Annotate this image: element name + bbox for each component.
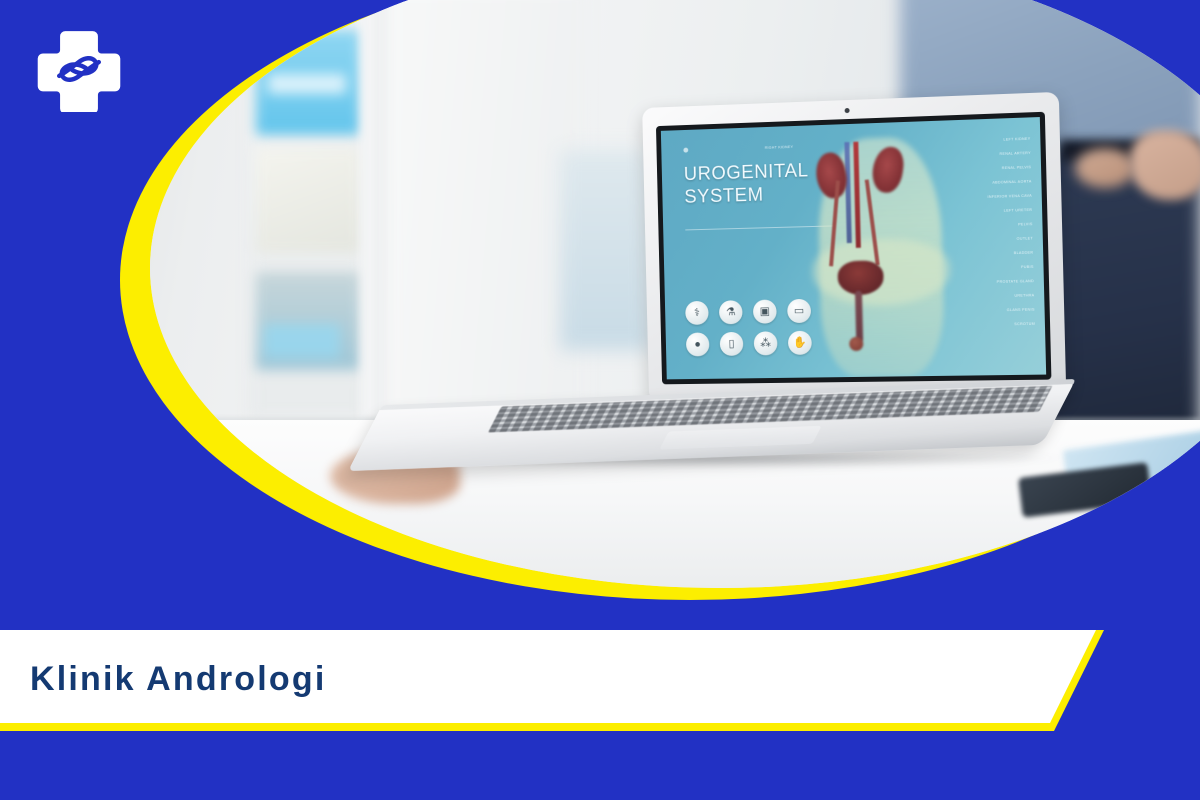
laptop: UROGENITAL SYSTEM — [150, 0, 1200, 588]
anatomy-label: PROSTATE GLAND — [918, 280, 1035, 286]
screen-heading-line1: UROGENITAL — [684, 161, 809, 187]
anatomy-label: RENAL PELVIS — [915, 166, 1031, 173]
camera-icon[interactable]: ▣ — [753, 300, 777, 324]
screen-heading: UROGENITAL SYSTEM — [684, 161, 810, 209]
anatomy-label: ABDOMINAL AORTA — [915, 181, 1031, 188]
document-icon[interactable]: ▯ — [720, 332, 744, 356]
anatomy-label: URETHRA — [918, 294, 1035, 300]
clinic-logo[interactable] — [36, 26, 122, 112]
anatomy-label: RIGHT KIDNEY — [765, 144, 848, 150]
glans-penis — [849, 336, 863, 350]
laptop-trackpad[interactable] — [659, 426, 821, 450]
anatomy-label: INFERIOR VENA CAVA — [916, 195, 1032, 202]
hero-photo-image: UROGENITAL SYSTEM — [150, 0, 1200, 588]
laptop-screen[interactable]: UROGENITAL SYSTEM — [661, 117, 1046, 379]
stethoscope-icon[interactable]: ⚕ — [685, 301, 709, 325]
bladder — [837, 260, 884, 295]
title-bar-white-panel: Klinik Andrologi — [0, 630, 1096, 723]
title-bar: Klinik Andrologi — [0, 630, 1104, 731]
screen-heading-rule — [685, 226, 834, 231]
screen-corner-dot-icon — [683, 147, 688, 152]
anatomy-label: BLADDER — [917, 252, 1033, 258]
hero-photo: UROGENITAL SYSTEM — [150, 0, 1200, 588]
anatomy-labels-right: LEFT KIDNEY RENAL ARTERY RENAL PELVIS AB… — [914, 138, 1035, 339]
anatomy-labels-left: RIGHT KIDNEY — [765, 144, 848, 161]
page-title: Klinik Andrologi — [30, 660, 326, 699]
anatomy-label: LEFT URETER — [916, 209, 1032, 216]
hand-icon[interactable]: ✋ — [788, 331, 812, 355]
monitor-icon[interactable]: ▭ — [787, 299, 811, 323]
screen-heading-line2: SYSTEM — [684, 183, 809, 209]
anatomy-label: GLANS PENIS — [918, 309, 1035, 315]
anatomy-label: OUTLET — [917, 237, 1033, 244]
screen-icon-grid[interactable]: ⚕ ⚗ ▣ ▭ ● ▯ ⁂ ✋ — [685, 299, 812, 357]
anatomy-label: PELVIS — [916, 223, 1032, 230]
pill-icon[interactable]: ● — [686, 333, 710, 357]
laptop-lid: UROGENITAL SYSTEM — [642, 92, 1066, 402]
cells-icon[interactable]: ⁂ — [754, 332, 778, 356]
microscope-icon[interactable]: ⚗ — [719, 300, 743, 324]
urethra — [855, 291, 863, 342]
anatomy-label: RENAL ARTERY — [915, 152, 1031, 159]
laptop-bezel: UROGENITAL SYSTEM — [656, 112, 1051, 385]
webcam-icon — [844, 108, 849, 113]
clinic-banner: UROGENITAL SYSTEM — [0, 0, 1200, 800]
anatomy-label: PUBIS — [917, 266, 1034, 272]
anatomy-label: LEFT KIDNEY — [914, 138, 1030, 146]
anatomy-label: SCROTUM — [919, 323, 1036, 329]
